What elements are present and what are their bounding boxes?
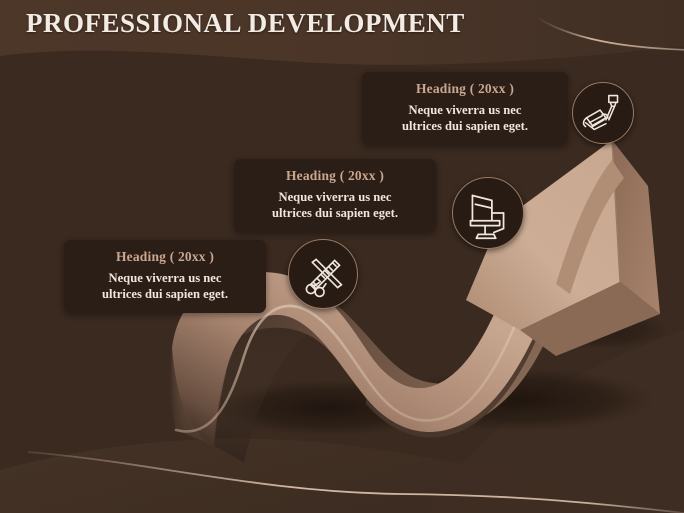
callout-card-1[interactable]: Heading ( 20xx ) Neque viverra us nec ul… xyxy=(64,240,266,313)
barber-chair-icon xyxy=(453,178,523,248)
callout-card-2[interactable]: Heading ( 20xx ) Neque viverra us nec ul… xyxy=(234,159,436,232)
callout-body-line-1: Neque viverra us nec xyxy=(248,189,422,205)
callout-body-line-2: ultrices dui sapien eget. xyxy=(78,286,252,302)
callout-heading: Heading ( 20xx ) xyxy=(78,249,252,266)
callout-body-line-2: ultrices dui sapien eget. xyxy=(248,205,422,221)
page-title: PROFESSIONAL DEVELOPMENT xyxy=(26,8,465,39)
callout-heading: Heading ( 20xx ) xyxy=(376,81,554,98)
hand-razor-icon xyxy=(573,83,633,143)
icon-badge-2[interactable] xyxy=(452,177,524,249)
slide-canvas: PROFESSIONAL DEVELOPMENT Heading ( 20xx … xyxy=(0,0,684,513)
callout-body-line-1: Neque viverra us nec xyxy=(376,102,554,118)
scissors-comb-icon xyxy=(289,240,357,308)
callout-heading: Heading ( 20xx ) xyxy=(248,168,422,185)
icon-badge-1[interactable] xyxy=(288,239,358,309)
callout-body-line-2: ultrices dui sapien eget. xyxy=(376,118,554,134)
callout-card-3[interactable]: Heading ( 20xx ) Neque viverra us nec ul… xyxy=(362,72,568,145)
callout-body-line-1: Neque viverra us nec xyxy=(78,270,252,286)
icon-badge-3[interactable] xyxy=(572,82,634,144)
